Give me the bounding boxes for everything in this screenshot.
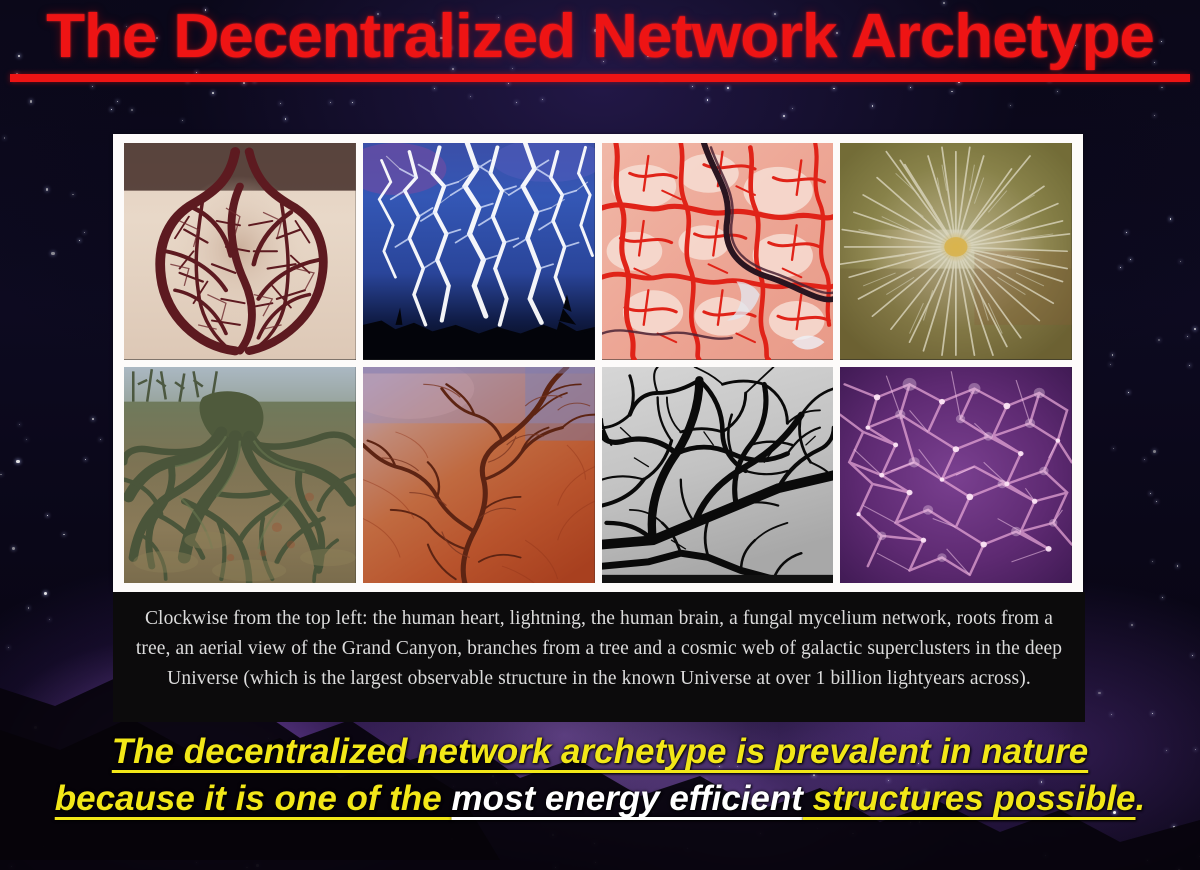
image-grid [124, 143, 1072, 583]
tile-tree-branches [602, 367, 834, 584]
tile-human-heart [124, 143, 356, 360]
statement-line-2-part-1: because it is one of the [55, 779, 452, 818]
statement-highlight: most energy efficient [452, 779, 803, 818]
image-caption: Clockwise from the top left: the human h… [113, 592, 1085, 722]
statement-block: The decentralized network archetype is p… [0, 728, 1200, 822]
tile-grand-canyon-aerial [363, 367, 595, 584]
tile-cosmic-web [840, 367, 1072, 584]
statement-line-1: The decentralized network archetype is p… [0, 728, 1200, 775]
statement-line-2-part-2: structures possible [803, 779, 1136, 818]
image-panel [113, 134, 1083, 592]
statement-line-2: because it is one of the most energy eff… [0, 775, 1200, 822]
tile-lightning [363, 143, 595, 360]
tile-human-brain [602, 143, 834, 360]
slide: The Decentralized Network Archetype [0, 0, 1200, 870]
page-title: The Decentralized Network Archetype [0, 2, 1200, 72]
tile-fungal-mycelium-network [840, 143, 1072, 360]
title-underline-rule [10, 74, 1190, 82]
title-block: The Decentralized Network Archetype [0, 0, 1200, 92]
statement-line-1-text: The decentralized network archetype is p… [112, 732, 1088, 771]
statement-period: . [1136, 779, 1146, 818]
tile-tree-roots [124, 367, 356, 584]
